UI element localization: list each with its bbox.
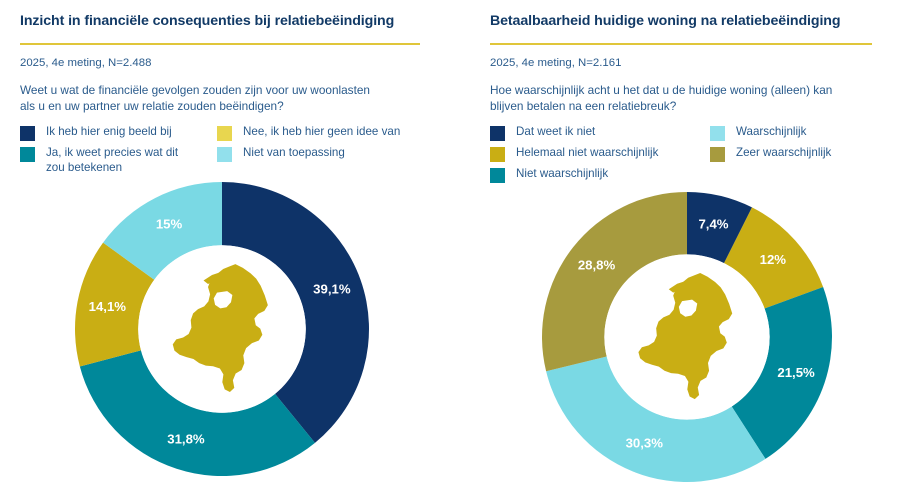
donut-value-label: 39,1% [313, 281, 351, 296]
panel-inzicht-financiele-consequenties: Inzicht in financiële consequenties bij … [0, 0, 450, 492]
legend-swatch-icon [490, 147, 505, 162]
question-line: Hoe waarschijnlijk acht u het dat u de h… [490, 82, 900, 98]
netherlands-silhouette [638, 273, 732, 399]
donut-slice[interactable] [222, 182, 369, 443]
donut-chart-svg: 39,1%31,8%14,1%15% [0, 0, 450, 492]
donut-value-label: 15% [156, 217, 183, 232]
donut-slice[interactable] [75, 243, 154, 367]
legend-item[interactable]: Ik heb hier enig beeld bij [20, 125, 217, 141]
legend-item[interactable]: Niet van toepassing [217, 146, 400, 162]
legend-swatch-icon [710, 147, 725, 162]
map-ijsselmeer [679, 300, 697, 317]
legend-item-label: Ik heb hier enig beeld bij [46, 125, 172, 140]
donut-center-hole [138, 245, 306, 413]
donut-slices[interactable] [75, 182, 369, 476]
legend-item-label: Dat weet ik niet [516, 125, 595, 140]
panel-question: Hoe waarschijnlijk acht u het dat u de h… [490, 82, 900, 114]
legend-item[interactable]: Ja, ik weet precies wat dit zou betekene… [20, 146, 217, 175]
title-rule [490, 43, 872, 45]
legend-item-label: Niet van toepassing [243, 146, 345, 161]
question-line: als u en uw partner uw relatie zouden be… [20, 98, 450, 114]
donut-value-label: 21,5% [777, 365, 815, 380]
legend-swatch-icon [217, 147, 232, 162]
legend-item-label: Nee, ik heb hier geen idee van [243, 125, 400, 140]
legend-item[interactable]: Helemaal niet waarschijnlijk [490, 146, 710, 162]
donut-value-label: 30,3% [626, 435, 664, 450]
donut-value-label: 14,1% [89, 299, 127, 314]
donut-chart-right: 7,4%12%21,5%30,3%28,8% [450, 0, 900, 492]
legend-item[interactable]: Nee, ik heb hier geen idee van [217, 125, 400, 141]
donut-chart-svg: 7,4%12%21,5%30,3%28,8% [450, 0, 900, 492]
legend-item-label: Ja, ik weet precies wat dit zou betekene… [46, 146, 196, 175]
legend-item[interactable]: Niet waarschijnlijk [490, 167, 710, 183]
chart-legend: Dat weet ik niet Helemaal niet waarschij… [490, 125, 900, 188]
panel-question: Weet u wat de financiële gevolgen zouden… [20, 82, 450, 114]
question-line: Weet u wat de financiële gevolgen zouden… [20, 82, 450, 98]
legend-item[interactable]: Waarschijnlijk [710, 125, 831, 141]
legend-column-right: Waarschijnlijk Zeer waarschijnlijk [710, 125, 831, 188]
netherlands-silhouette [173, 264, 268, 392]
panel-title: Inzicht in financiële consequenties bij … [20, 0, 450, 30]
legend-item-label: Waarschijnlijk [736, 125, 806, 140]
panel-meta: 2025, 4e meting, N=2.488 [20, 56, 450, 70]
donut-slice[interactable] [724, 207, 823, 308]
legend-swatch-icon [490, 126, 505, 141]
donut-chart-left: 39,1%31,8%14,1%15% [0, 0, 450, 492]
donut-slice[interactable] [546, 357, 765, 482]
donut-slice[interactable] [103, 182, 222, 280]
legend-swatch-icon [710, 126, 725, 141]
panel-betaalbaarheid-huidige-woning: Betaalbaarheid huidige woning na relatie… [450, 0, 900, 492]
infographic-page: Inzicht in financiële consequenties bij … [0, 0, 900, 492]
map-wadden-islands [669, 279, 707, 293]
donut-slice[interactable] [80, 350, 315, 476]
legend-item-label: Zeer waarschijnlijk [736, 146, 831, 161]
panel-meta: 2025, 4e meting, N=2.161 [490, 56, 900, 70]
map-landmass [173, 264, 268, 392]
legend-item-label: Helemaal niet waarschijnlijk [516, 146, 658, 161]
donut-center-hole [604, 254, 769, 419]
donut-slice[interactable] [542, 192, 687, 371]
title-rule [20, 43, 420, 45]
donut-value-label: 28,8% [578, 257, 616, 272]
donut-value-label: 7,4% [698, 217, 728, 232]
legend-item[interactable]: Dat weet ik niet [490, 125, 710, 141]
legend-swatch-icon [217, 126, 232, 141]
donut-slice[interactable] [687, 192, 752, 263]
map-landmass [638, 273, 732, 399]
map-wadden-islands [204, 270, 242, 284]
legend-column-left: Dat weet ik niet Helemaal niet waarschij… [490, 125, 710, 188]
panel-title: Betaalbaarheid huidige woning na relatie… [490, 0, 900, 30]
legend-item[interactable]: Zeer waarschijnlijk [710, 146, 831, 162]
legend-column-left: Ik heb hier enig beeld bij Ja, ik weet p… [20, 125, 217, 180]
legend-swatch-icon [20, 126, 35, 141]
donut-value-label: 31,8% [167, 431, 205, 446]
netherlands-map-icon [138, 245, 306, 413]
donut-value-labels: 7,4%12%21,5%30,3%28,8% [578, 217, 815, 451]
map-ijsselmeer [214, 291, 233, 308]
donut-slices[interactable] [542, 192, 832, 482]
legend-column-right: Nee, ik heb hier geen idee van Niet van … [217, 125, 400, 180]
chart-legend: Ik heb hier enig beeld bij Ja, ik weet p… [20, 125, 450, 180]
legend-swatch-icon [490, 168, 505, 183]
donut-value-label: 12% [760, 252, 787, 267]
donut-value-labels: 39,1%31,8%14,1%15% [89, 217, 351, 447]
legend-swatch-icon [20, 147, 35, 162]
question-line: blijven betalen na een relatiebreuk? [490, 98, 900, 114]
legend-item-label: Niet waarschijnlijk [516, 167, 608, 182]
donut-slice[interactable] [732, 287, 832, 459]
netherlands-map-icon [604, 254, 769, 419]
